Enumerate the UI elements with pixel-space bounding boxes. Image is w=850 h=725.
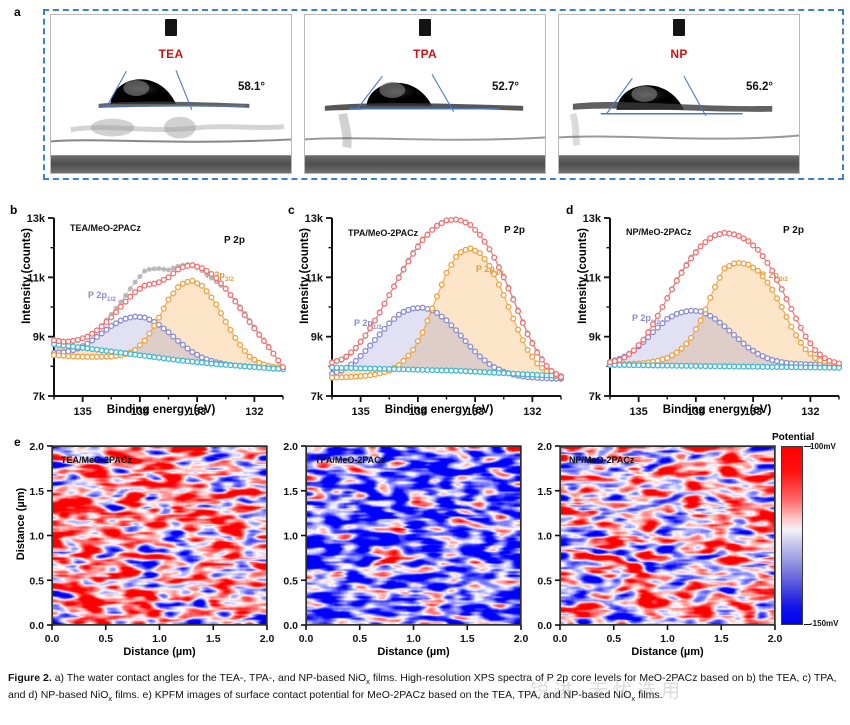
svg-text:133: 133 <box>188 406 206 418</box>
panel-a-letter: a <box>14 5 21 19</box>
contact-angle-drop-tea <box>51 15 291 173</box>
kpfm-image-tpa: TPA/MeO-2PACz <box>306 446 521 625</box>
contact-angle-image-tpa: TPA 52.7° <box>304 14 546 174</box>
svg-text:134: 134 <box>131 406 150 418</box>
svg-text:0.0: 0.0 <box>45 633 60 645</box>
contact-angle-value-tea: 58.1° <box>238 81 265 93</box>
svg-text:1.5: 1.5 <box>29 486 44 498</box>
kpfm-xlabel-tpa: Distance (µm) <box>306 646 521 658</box>
kpfm-xlabel-tea: Distance (µm) <box>52 646 267 658</box>
svg-text:0.5: 0.5 <box>606 633 621 645</box>
kpfm-title-tea: TEA/MeO-2PACz <box>61 455 132 465</box>
syringe-needle-icon <box>165 19 177 36</box>
svg-text:134: 134 <box>409 406 428 418</box>
svg-text:132: 132 <box>523 406 541 418</box>
panel-d-plot: 7k9k11k13k135134133132 <box>564 200 844 425</box>
svg-text:9k: 9k <box>589 332 602 344</box>
svg-text:135: 135 <box>351 406 369 418</box>
svg-text:1.0: 1.0 <box>152 633 167 645</box>
contact-angle-label-tpa: TPA <box>305 47 545 61</box>
kpfm-canvas-tpa <box>307 447 520 624</box>
kpfm-title-np: NP/MeO-2PACz <box>569 455 634 465</box>
svg-text:0.5: 0.5 <box>98 633 113 645</box>
potential-colorbar <box>781 446 803 625</box>
panel-e-letter: e <box>14 435 21 449</box>
panel-d-xps-np: d Intensity (counts) Binding energy (eV)… <box>564 200 844 425</box>
svg-text:1.0: 1.0 <box>406 633 421 645</box>
svg-text:2.0: 2.0 <box>29 441 44 453</box>
svg-text:1.0: 1.0 <box>537 531 552 543</box>
contact-angle-image-np: NP 56.2° <box>558 14 800 174</box>
panel-b-plot: 7k9k11k13k135134133132 <box>8 200 288 425</box>
svg-text:1.5: 1.5 <box>460 633 475 645</box>
contact-angle-drop-np <box>559 15 799 173</box>
svg-text:134: 134 <box>687 406 706 418</box>
svg-text:132: 132 <box>245 406 263 418</box>
syringe-needle-icon <box>673 19 685 36</box>
colorbar-title: Potential <box>772 432 814 443</box>
svg-text:2.0: 2.0 <box>768 633 783 645</box>
kpfm-canvas-tea <box>53 447 266 624</box>
contact-angle-label-tea: TEA <box>51 47 291 61</box>
contact-angle-value-np: 56.2° <box>746 81 773 93</box>
svg-text:2.0: 2.0 <box>260 633 275 645</box>
panel-e-kpfm: e TEA/MeO-2PACz TPA/MeO-2PACz NP/MeO-2PA… <box>0 430 850 665</box>
svg-text:13k: 13k <box>583 213 602 225</box>
svg-text:13k: 13k <box>27 213 46 225</box>
svg-text:133: 133 <box>466 406 484 418</box>
panel-b-xps-tea: b Intensity (counts) Binding energy (eV)… <box>8 200 288 425</box>
panel-a-contact-angles: a TEA 58.1° <box>0 0 850 190</box>
contact-angle-image-tea: TEA 58.1° <box>50 14 292 174</box>
figure-label: Figure 2. <box>8 672 52 684</box>
figure-caption: Figure 2. a) The water contact angles fo… <box>8 671 846 705</box>
svg-text:133: 133 <box>744 406 762 418</box>
svg-text:1.5: 1.5 <box>283 486 298 498</box>
figure-caption-text: a) The water contact angles for the TEA-… <box>8 672 836 701</box>
contact-angle-label-np: NP <box>559 47 799 61</box>
svg-text:0.0: 0.0 <box>283 620 298 632</box>
svg-text:1.0: 1.0 <box>29 531 44 543</box>
svg-text:132: 132 <box>801 406 819 418</box>
contact-angle-value-tpa: 52.7° <box>492 81 519 93</box>
syringe-needle-icon <box>419 19 431 36</box>
kpfm-title-tpa: TPA/MeO-2PACz <box>315 455 385 465</box>
kpfm-ylabel: Distance (µm) <box>15 449 27 599</box>
svg-text:2.0: 2.0 <box>283 441 298 453</box>
svg-text:0.5: 0.5 <box>29 575 44 587</box>
kpfm-canvas-np <box>561 447 774 624</box>
svg-text:9k: 9k <box>311 332 324 344</box>
kpfm-xlabel-np: Distance (µm) <box>560 646 775 658</box>
svg-text:0.5: 0.5 <box>537 575 552 587</box>
svg-text:7k: 7k <box>311 391 324 403</box>
svg-text:135: 135 <box>73 406 91 418</box>
svg-text:135: 135 <box>629 406 647 418</box>
svg-text:0.0: 0.0 <box>299 633 314 645</box>
svg-text:0.0: 0.0 <box>553 633 568 645</box>
svg-text:11k: 11k <box>27 272 46 284</box>
kpfm-image-tea: TEA/MeO-2PACz <box>52 446 267 625</box>
svg-text:0.0: 0.0 <box>537 620 552 632</box>
svg-text:1.0: 1.0 <box>283 531 298 543</box>
svg-text:1.5: 1.5 <box>206 633 221 645</box>
svg-text:1.5: 1.5 <box>714 633 729 645</box>
svg-text:9k: 9k <box>33 332 46 344</box>
panel-c-plot: 7k9k11k13k135134133132 <box>286 200 566 425</box>
contact-angle-drop-tpa <box>305 15 545 173</box>
svg-text:2.0: 2.0 <box>514 633 529 645</box>
svg-text:0.5: 0.5 <box>352 633 367 645</box>
svg-text:2.0: 2.0 <box>537 441 552 453</box>
colorbar-min-label: -150mV <box>810 619 838 628</box>
panel-c-xps-tpa: c Intensity (counts) Binding energy (eV)… <box>286 200 566 425</box>
colorbar-max-label: 100mV <box>810 442 836 451</box>
svg-text:1.0: 1.0 <box>660 633 675 645</box>
svg-text:1.5: 1.5 <box>537 486 552 498</box>
svg-text:13k: 13k <box>305 213 324 225</box>
svg-text:11k: 11k <box>305 272 324 284</box>
svg-text:7k: 7k <box>33 391 46 403</box>
svg-text:11k: 11k <box>583 272 602 284</box>
svg-text:0.5: 0.5 <box>283 575 298 587</box>
kpfm-image-np: NP/MeO-2PACz <box>560 446 775 625</box>
svg-text:0.0: 0.0 <box>29 620 44 632</box>
svg-text:7k: 7k <box>589 391 602 403</box>
